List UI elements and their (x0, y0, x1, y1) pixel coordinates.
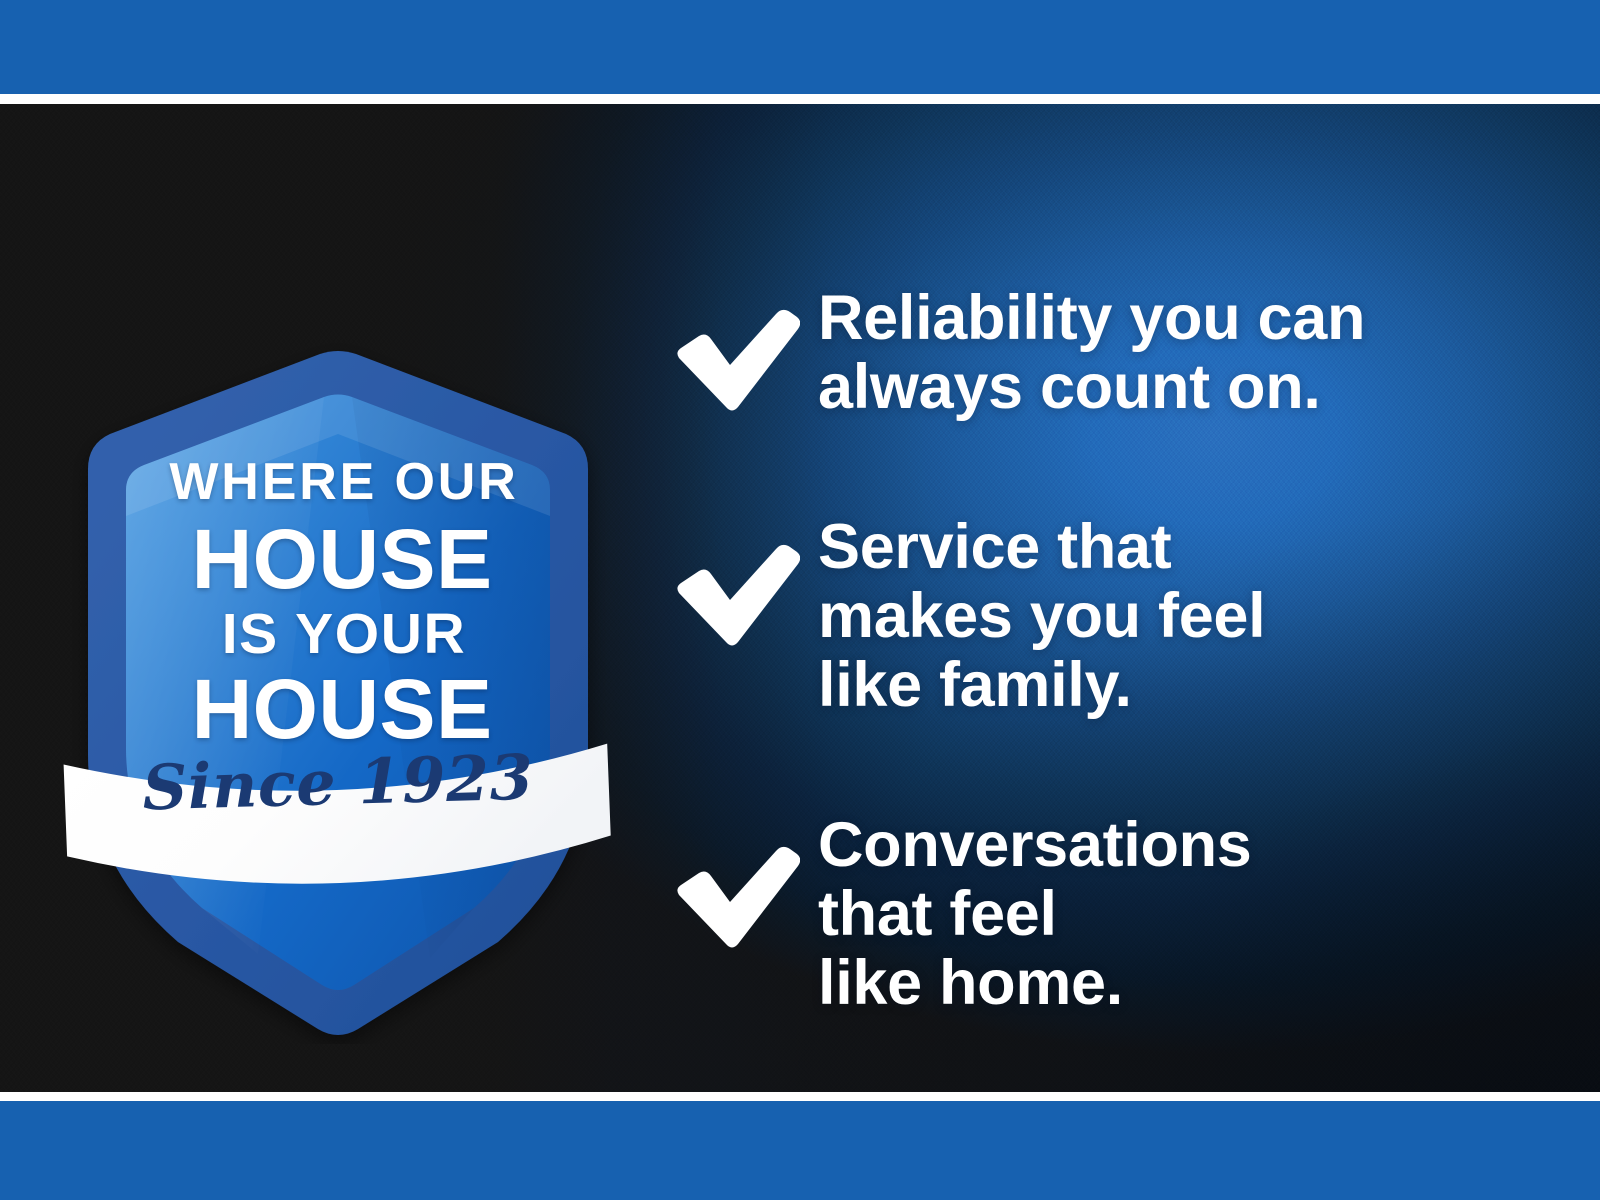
shield-emblem: WHERE OUR HOUSE IS YOUR HOUSE Since 1923 (58, 254, 618, 1044)
benefits-list: Reliability you can always count on. Ser… (672, 284, 1552, 1017)
benefit-item: Reliability you can always count on. (672, 284, 1552, 421)
benefit-text: Reliability you can always count on. (818, 284, 1365, 421)
brand-bar-bottom (0, 1101, 1600, 1200)
check-icon (672, 543, 800, 647)
check-icon (672, 845, 800, 949)
benefit-text: Conversations that feel like home. (818, 811, 1252, 1017)
benefit-item: Service that makes you feel like family. (672, 513, 1552, 719)
benefit-item: Conversations that feel like home. (672, 811, 1552, 1017)
check-icon (672, 308, 800, 412)
benefit-text: Service that makes you feel like family. (818, 513, 1265, 719)
poster-stage: WHERE OUR HOUSE IS YOUR HOUSE Since 1923… (0, 104, 1600, 1092)
brand-bar-top (0, 0, 1600, 94)
shield-icon (58, 254, 618, 1044)
promotional-poster: WHERE OUR HOUSE IS YOUR HOUSE Since 1923… (0, 0, 1600, 1200)
